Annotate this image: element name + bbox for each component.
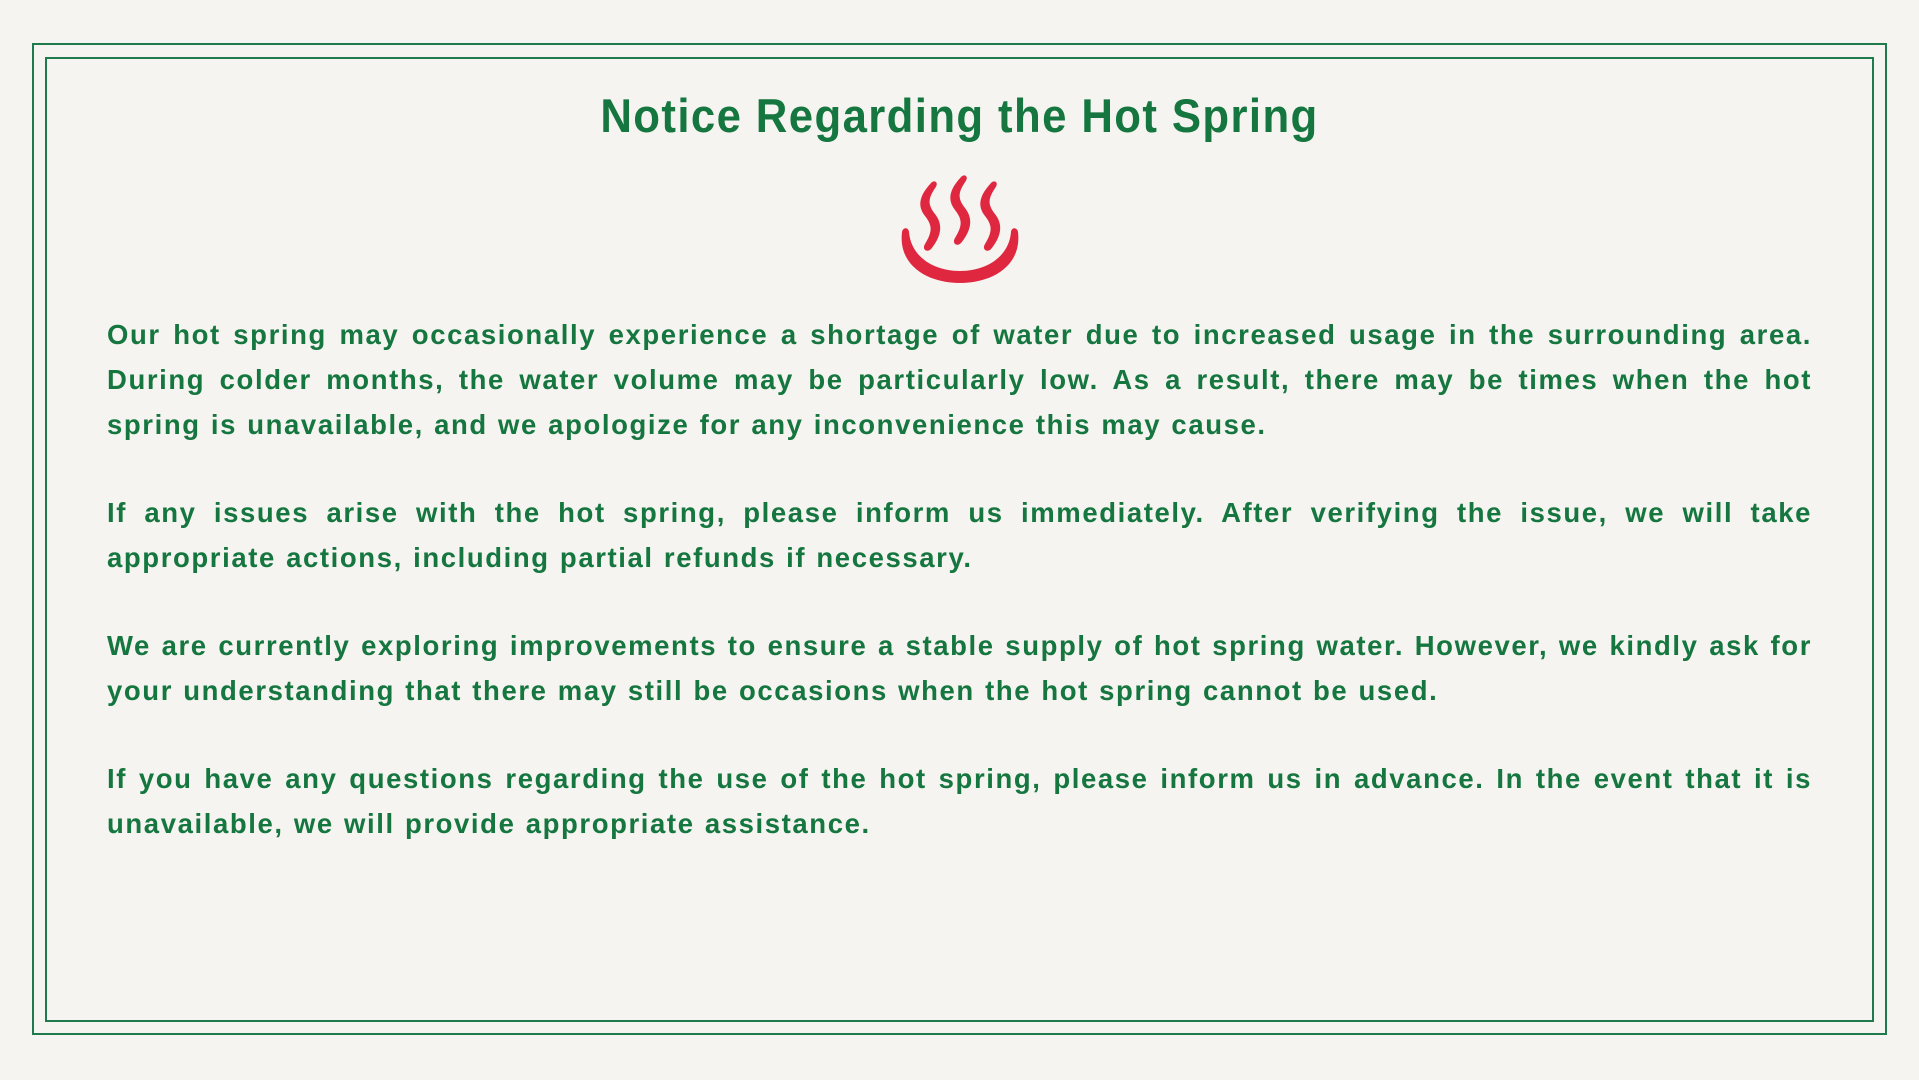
notice-paragraph-4: If you have any questions regarding the … (107, 756, 1812, 846)
notice-sheet: Notice Regarding the Hot Spring Our hot … (0, 0, 1919, 1080)
notice-paragraph-2: If any issues arise with the hot spring,… (107, 490, 1812, 580)
hot-spring-icon-container (107, 174, 1812, 286)
notice-paragraph-3: We are currently exploring improvements … (107, 623, 1812, 713)
hot-spring-onsen-icon (888, 174, 1032, 286)
notice-body: Our hot spring may occasionally experien… (107, 312, 1812, 846)
page-title: Notice Regarding the Hot Spring (167, 78, 1753, 142)
notice-paragraph-1: Our hot spring may occasionally experien… (107, 312, 1812, 447)
